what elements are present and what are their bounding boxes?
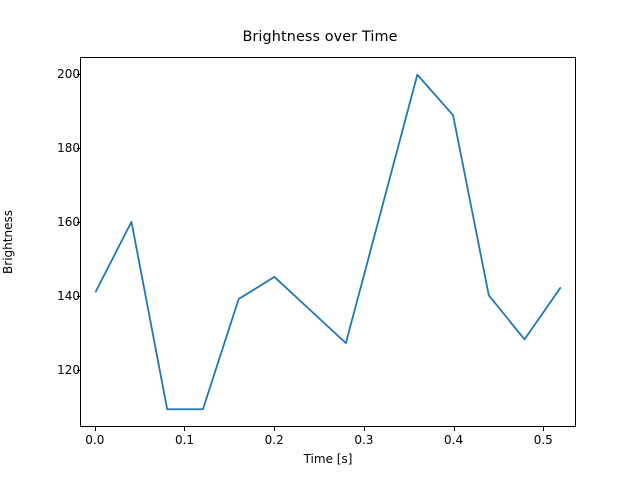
x-tick-label: 0.4 [424,433,484,447]
chart-figure: Brightness over Time Brightness 12014016… [0,0,640,480]
x-tick-label: 0.1 [154,433,214,447]
chart-title: Brightness over Time [0,29,640,45]
y-tick-label: 120 [34,363,80,377]
x-tick-mark [184,427,185,431]
x-tick-label: 0.3 [334,433,394,447]
plot-area [80,57,576,427]
x-tick-label: 0.0 [65,433,125,447]
y-axis-label: Brightness [0,57,16,427]
y-axis-ticks: 120140160180200 [28,57,80,427]
x-axis-label: Time [s] [80,452,576,466]
y-tick-label: 140 [34,289,80,303]
x-tick-label: 0.2 [244,433,304,447]
x-tick-mark [95,427,96,431]
x-tick-mark [543,427,544,431]
x-tick-mark [364,427,365,431]
y-tick-label: 160 [34,215,80,229]
x-tick-mark [454,427,455,431]
x-tick-mark [274,427,275,431]
series-brightness-line [96,75,561,410]
y-tick-label: 180 [34,141,80,155]
data-line-svg [81,58,575,426]
x-tick-label: 0.5 [513,433,573,447]
y-tick-label: 200 [34,67,80,81]
